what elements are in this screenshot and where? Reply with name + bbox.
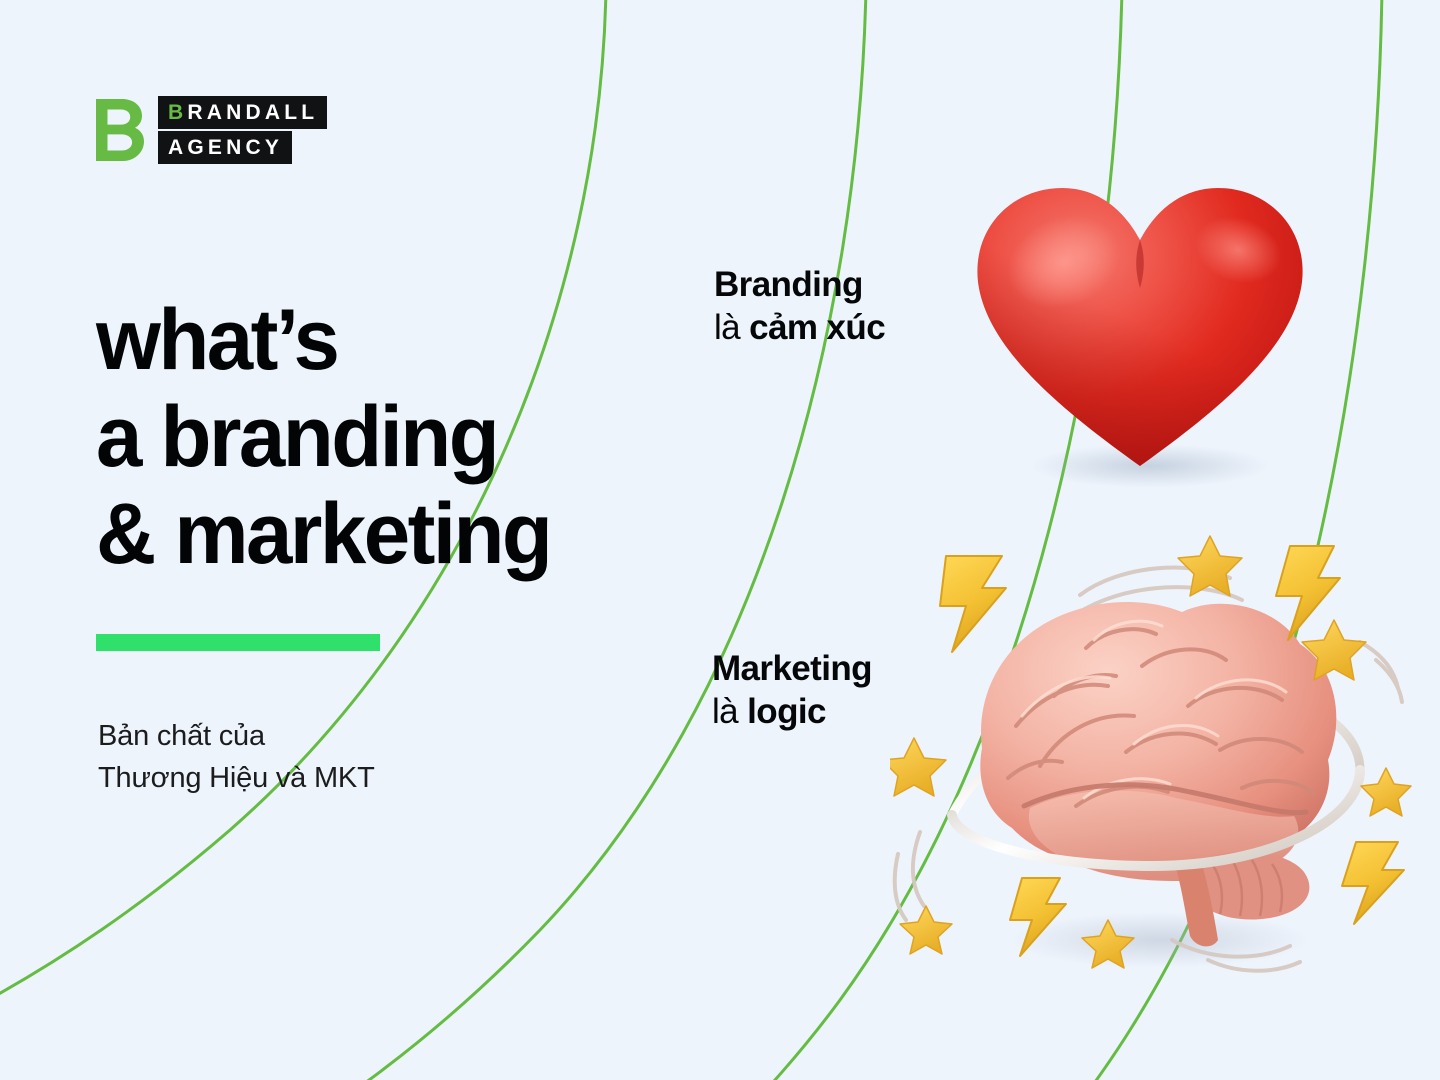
brandall-b-mark-icon [96,99,144,161]
callout-branding-emphasis: cảm xúc [749,308,885,347]
callout-marketing: Marketing là logic [712,648,872,733]
motion-arc-6 [895,854,906,920]
lightning-bolt-icon-bottomright [1342,842,1404,924]
sparkle-star-icon-5 [900,906,952,954]
subtitle: Bản chất của Thương Hiệu và MKT [98,716,375,800]
brand-logo[interactable]: BRANDALL AGENCY [96,96,327,164]
3d-brain-illustration [890,520,1420,980]
callout-branding-body: là cảm xúc [714,307,885,350]
logo-line-brandall: BRANDALL [158,96,327,129]
callout-branding-prefix: là [714,308,749,347]
logo-lead-letter: B [168,101,187,124]
callout-marketing-title: Marketing [712,648,872,691]
callout-marketing-prefix: là [712,692,747,731]
motion-arc-5 [913,832,924,906]
logo-line-brandall-rest: RANDALL [187,101,318,124]
subtitle-line-2: Thương Hiệu và MKT [98,758,375,800]
accent-underline-rule [96,634,380,651]
callout-branding: Branding là cảm xúc [714,264,885,349]
headline-line-1: what’s [96,292,697,389]
poster-canvas: BRANDALL AGENCY what’s a branding & mark… [0,0,1440,1080]
lightning-bolt-icon-left [940,556,1006,652]
callout-marketing-body: là logic [712,691,872,734]
brain-drop-shadow [1010,912,1310,968]
headline-line-3: & marketing [96,486,697,583]
3d-heart-illustration [960,170,1320,490]
sparkle-star-icon-3 [1361,768,1411,816]
subtitle-line-1: Bản chất của [98,716,375,758]
sparkle-star-icon-4 [890,738,946,796]
callout-branding-title: Branding [714,264,885,307]
headline-line-2: a branding [96,389,697,486]
callout-marketing-emphasis: logic [747,692,826,731]
page-title: what’s a branding & marketing [96,292,716,584]
logo-wordmark: BRANDALL AGENCY [158,96,327,164]
logo-line-agency: AGENCY [158,131,292,164]
